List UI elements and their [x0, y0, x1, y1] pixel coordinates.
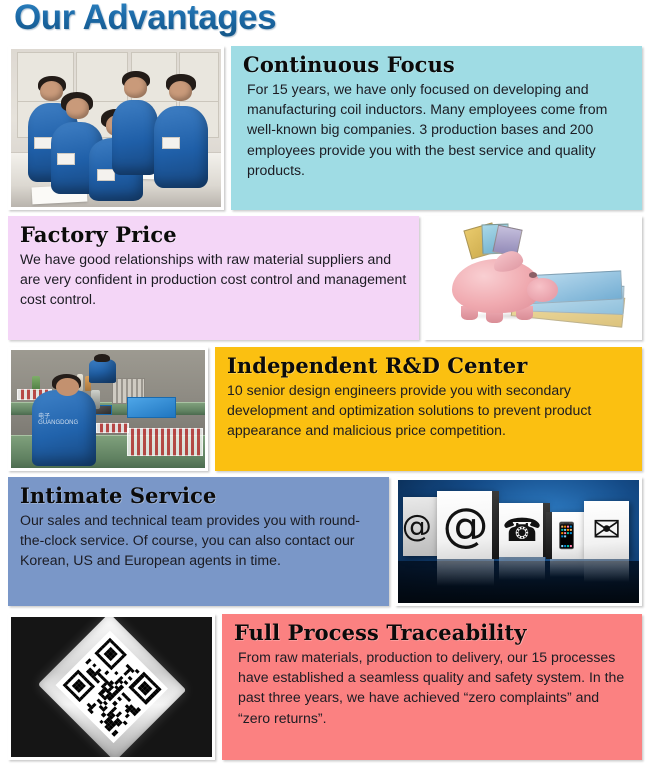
- advantage-row-independent-rd-center: 电子GUANGDONG Independent R&D Center 10 se…: [8, 347, 642, 471]
- workers-inspecting-products-photo: [8, 46, 224, 210]
- telephone-icon: ☎: [502, 514, 542, 546]
- advantage-heading: Continuous Focus: [243, 53, 630, 77]
- advantage-body: From raw materials, production to delive…: [234, 647, 630, 729]
- mobile-phone-icon: 📱: [551, 523, 582, 548]
- advantage-body: We have good relationships with raw mate…: [20, 249, 407, 310]
- advantage-body: Our sales and technical team provides yo…: [20, 510, 377, 571]
- advantage-row-full-process-traceability: Full Process Traceability From raw mater…: [8, 614, 642, 760]
- advantage-row-intimate-service: Intimate Service Our sales and technical…: [8, 477, 642, 606]
- advantage-panel-full-process-traceability: Full Process Traceability From raw mater…: [222, 614, 642, 760]
- advantage-heading: Full Process Traceability: [234, 621, 630, 645]
- at-sign-icon: @: [442, 502, 488, 548]
- advantage-heading: Intimate Service: [20, 484, 377, 508]
- advantage-heading: Independent R&D Center: [227, 354, 630, 378]
- contact-icon-cubes-photo: @ @ ☎ 📱 ✉: [395, 477, 642, 606]
- page-title: Our Advantages: [14, 0, 276, 38]
- advantage-body: 10 senior design engineers provide you w…: [227, 380, 630, 441]
- advantage-row-factory-price: Factory Price We have good relationships…: [8, 216, 642, 340]
- qr-code-icon: [62, 637, 161, 736]
- advantage-body: For 15 years, we have only focused on de…: [243, 79, 630, 181]
- qr-code-tag-photo: [8, 614, 215, 760]
- advantage-panel-factory-price: Factory Price We have good relationships…: [8, 216, 419, 340]
- advantage-heading: Factory Price: [20, 223, 407, 247]
- piggy-bank-with-euro-notes-photo: [424, 216, 642, 340]
- advantage-row-continuous-focus: Continuous Focus For 15 years, we have o…: [8, 46, 642, 210]
- assembly-line-worker-photo: 电子GUANGDONG: [8, 347, 208, 471]
- at-sign-icon: @: [402, 512, 432, 542]
- page-header: Our Advantages: [0, 0, 650, 46]
- advantage-panel-intimate-service: Intimate Service Our sales and technical…: [8, 477, 389, 606]
- envelope-icon: ✉: [592, 513, 621, 547]
- advantage-panel-continuous-focus: Continuous Focus For 15 years, we have o…: [231, 46, 642, 210]
- advantage-panel-independent-rd-center: Independent R&D Center 10 senior design …: [215, 347, 642, 471]
